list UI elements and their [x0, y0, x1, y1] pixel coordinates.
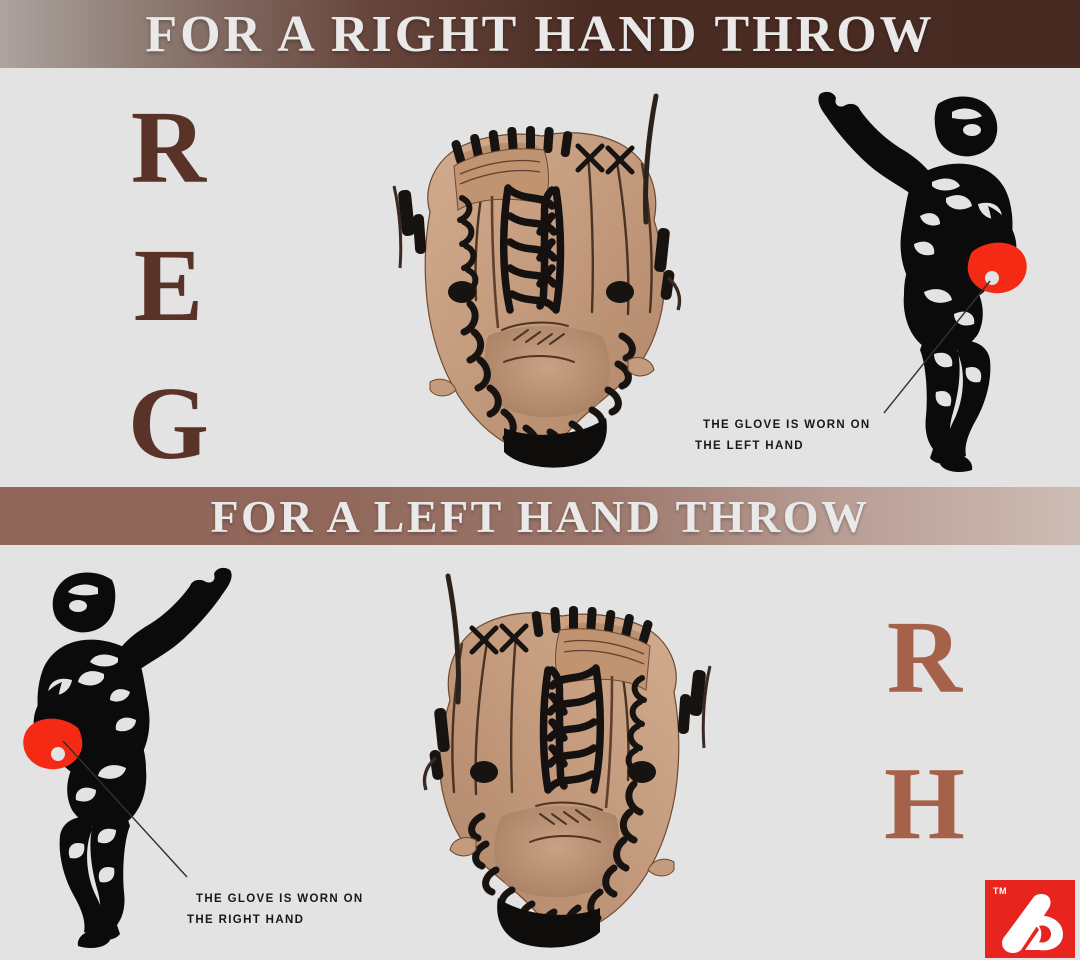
baseball-glove-bottom — [412, 572, 712, 950]
player-face-highlight — [69, 600, 87, 612]
letter-rh-0: R — [887, 606, 962, 710]
annotation-top: THE GLOVE IS WORN ON THE LEFT HAND — [703, 415, 871, 458]
banner-top-title: FOR A RIGHT HAND THROW — [145, 5, 934, 64]
banner-left-hand-throw: FOR A LEFT HAND THROW — [0, 487, 1080, 545]
label-reg: R E G — [128, 96, 209, 510]
player-face-highlight — [963, 124, 981, 136]
letter-reg-0: R — [131, 96, 206, 200]
player-back-cleat — [940, 454, 972, 472]
annotation-bottom-line1: THE GLOVE IS WORN ON — [196, 893, 364, 905]
barnett-b-icon — [995, 892, 1065, 954]
annotation-bottom: THE GLOVE IS WORN ON THE RIGHT HAND — [196, 889, 364, 932]
annotation-top-line2: THE LEFT HAND — [695, 436, 871, 457]
player-glove-inner-dot — [51, 747, 65, 761]
player-glove-highlight — [23, 719, 82, 770]
annotation-top-line1: THE GLOVE IS WORN ON — [703, 419, 871, 431]
player-back-cleat — [78, 930, 110, 948]
banner-mid-title: FOR A LEFT HAND THROW — [210, 490, 869, 543]
letter-reg-2: G — [128, 372, 209, 476]
baseball-glove-top — [392, 92, 692, 470]
glove-pocket — [494, 806, 619, 897]
brand-logo: TM — [985, 880, 1075, 958]
player-glove-inner-dot — [985, 271, 999, 285]
banner-right-hand-throw: FOR A RIGHT HAND THROW — [0, 0, 1080, 68]
glove-pocket — [485, 326, 610, 417]
annotation-bottom-line2: THE RIGHT HAND — [187, 910, 364, 931]
label-rh: R H — [884, 606, 965, 898]
infographic-canvas: FOR A RIGHT HAND THROW R E G — [0, 0, 1080, 960]
letter-reg-1: E — [134, 234, 203, 338]
player-glove-highlight — [968, 243, 1027, 294]
letter-rh-1: H — [884, 752, 965, 856]
